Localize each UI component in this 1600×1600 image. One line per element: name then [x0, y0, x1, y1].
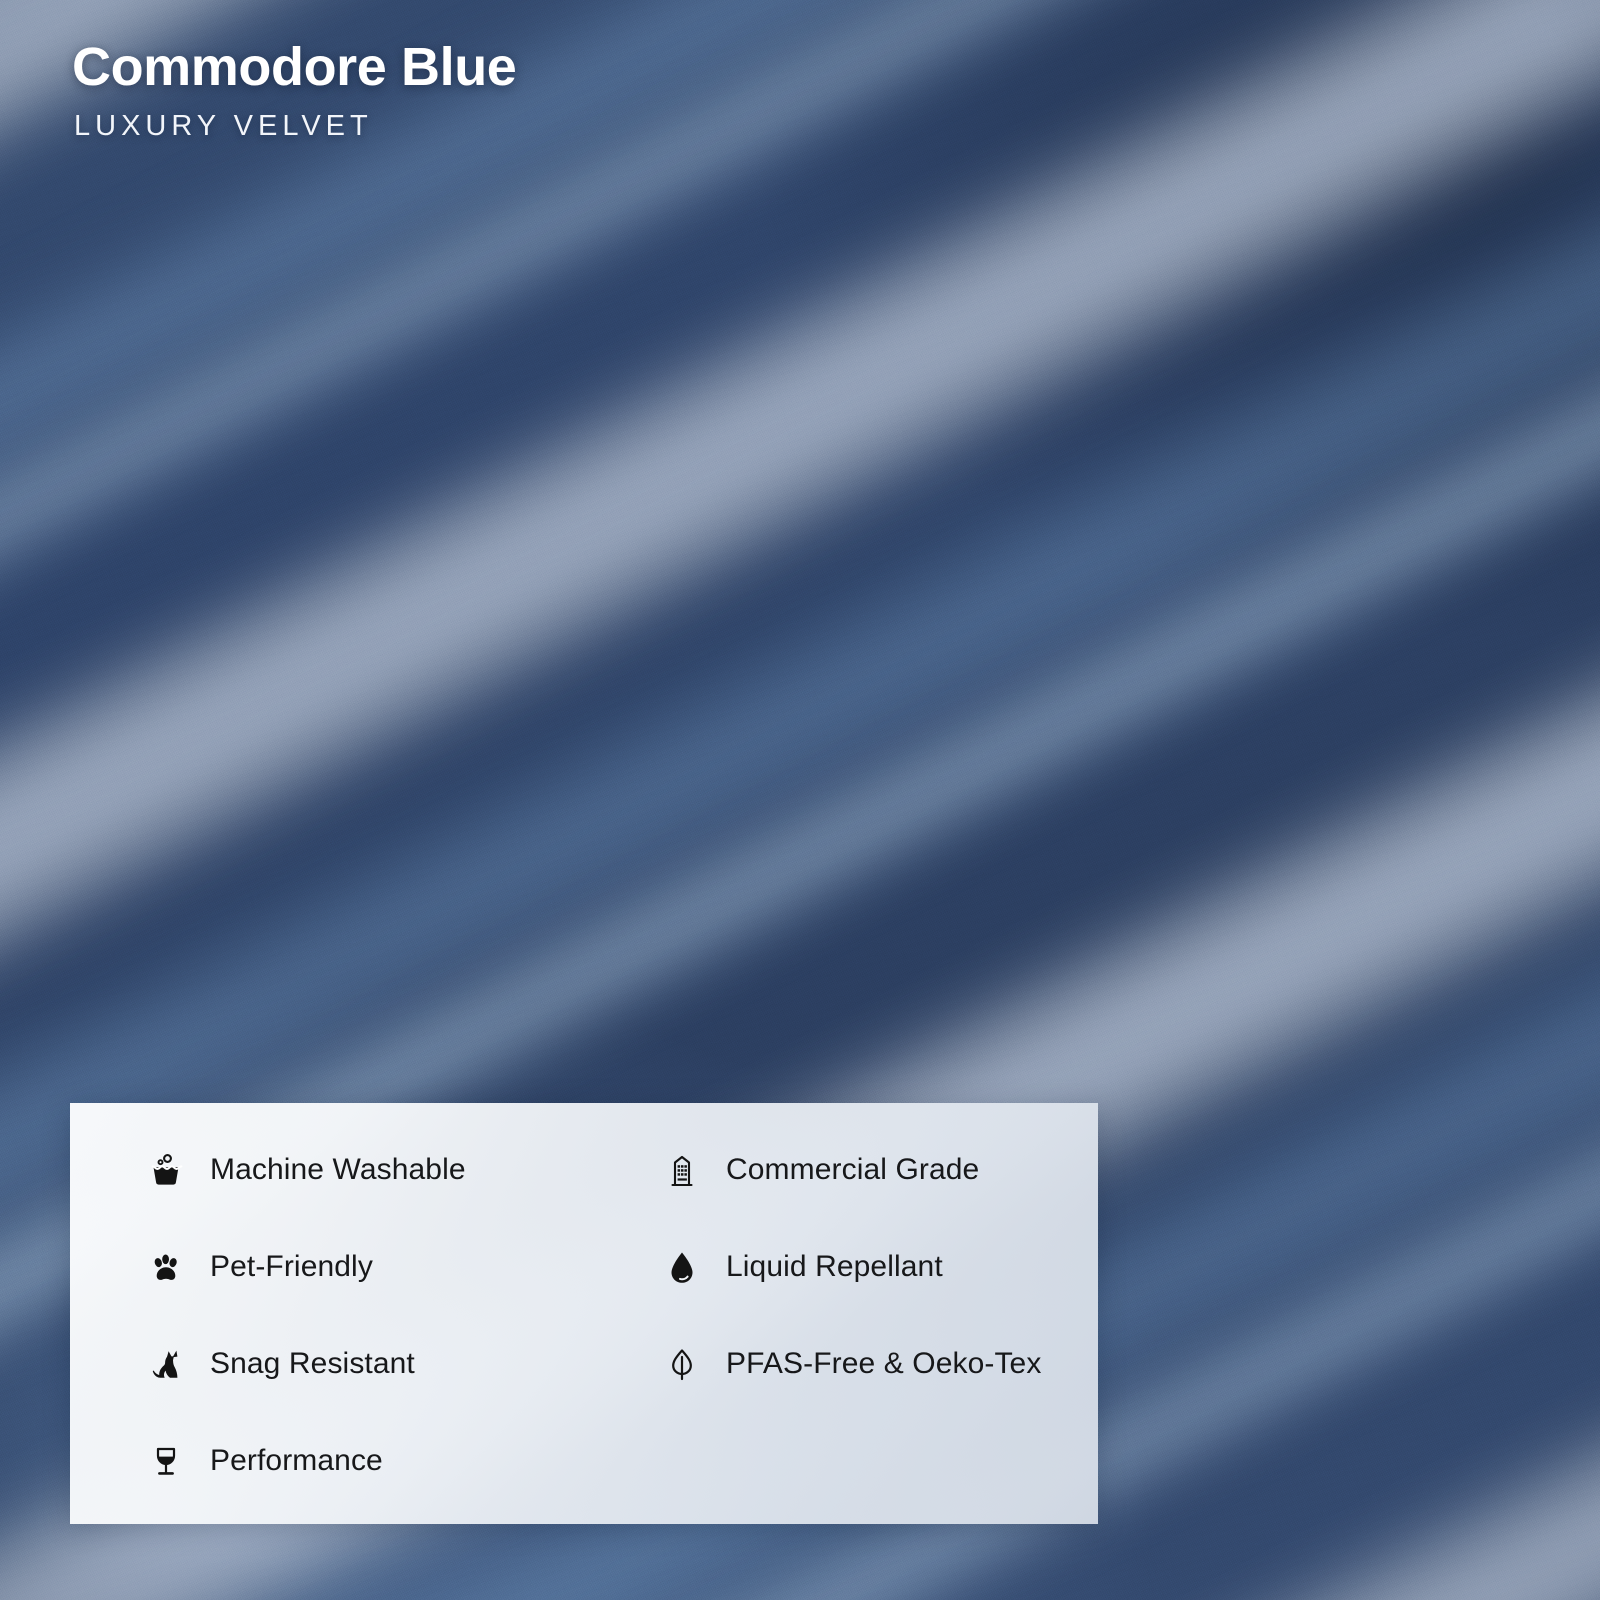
feature-label: Pet-Friendly — [210, 1250, 373, 1284]
feature-item-snag-resistant: Snag Resistant — [70, 1316, 608, 1413]
wash-basin-icon — [142, 1146, 190, 1194]
wine-glass-icon — [142, 1437, 190, 1485]
feature-item-performance: Performance — [70, 1413, 608, 1510]
feature-item-machine-washable: Machine Washable — [70, 1121, 608, 1218]
paw-print-icon — [142, 1243, 190, 1291]
feature-item-liquid-repellant: Liquid Repellant — [608, 1218, 1098, 1315]
page-title: Commodore Blue — [72, 40, 516, 94]
page-subtitle: LUXURY VELVET — [74, 112, 516, 141]
building-icon — [658, 1146, 706, 1194]
feature-panel: Machine Washable — [70, 1103, 1098, 1524]
feature-item-pfas-free-oeko-tex: PFAS-Free & Oeko-Tex — [608, 1316, 1098, 1413]
feature-item-pet-friendly: Pet-Friendly — [70, 1218, 608, 1315]
feature-label: Machine Washable — [210, 1153, 466, 1187]
feature-label: Commercial Grade — [726, 1153, 979, 1187]
water-droplet-icon — [658, 1243, 706, 1291]
heading-block: Commodore Blue LUXURY VELVET — [72, 40, 516, 141]
feature-label: PFAS-Free & Oeko-Tex — [726, 1347, 1041, 1381]
feature-label: Performance — [210, 1444, 383, 1478]
feature-item-commercial-grade: Commercial Grade — [608, 1121, 1098, 1218]
leaf-icon — [658, 1340, 706, 1388]
feature-label: Snag Resistant — [210, 1347, 415, 1381]
product-swatch-image: Commodore Blue LUXURY VELVET Machine Was… — [0, 0, 1600, 1600]
feature-label: Liquid Repellant — [726, 1250, 943, 1284]
cat-icon — [142, 1340, 190, 1388]
